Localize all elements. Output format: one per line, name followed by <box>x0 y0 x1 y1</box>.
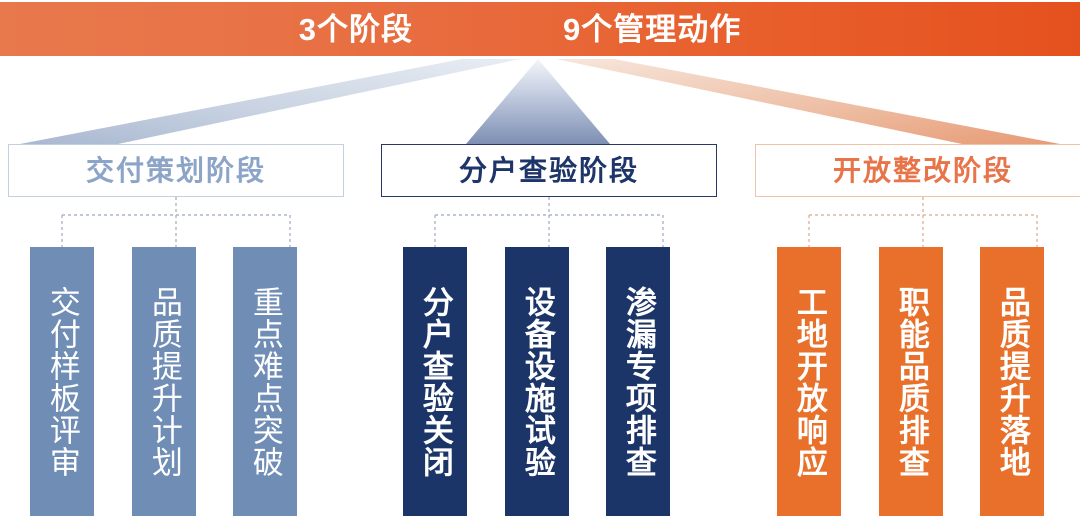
action-bar[interactable]: 分户查验关闭 <box>403 247 467 516</box>
action-bar-label: 工地开放响应 <box>790 286 828 478</box>
phase-title-box-delivery-planning[interactable]: 交付策划阶段 <box>8 144 344 197</box>
phase-title-label: 分户查验阶段 <box>459 157 639 185</box>
phase-group-open-rectification: 开放整改阶段 工地开放响应 职能品质排查 品质提升落地 <box>755 144 1080 516</box>
action-bar-label: 分户查验关闭 <box>416 286 454 478</box>
action-bars-open-rectification: 工地开放响应 职能品质排查 品质提升落地 <box>755 247 1080 516</box>
action-bar[interactable]: 渗漏专项排查 <box>606 247 670 516</box>
action-bar-label: 职能品质排查 <box>892 286 930 478</box>
action-bar[interactable]: 品质提升计划 <box>132 247 196 516</box>
connector-delivery-planning <box>8 197 344 247</box>
phase-group-delivery-planning: 交付策划阶段 交付样板评审 品质提升计划 重点难点突破 <box>8 144 344 516</box>
phase-title-label: 开放整改阶段 <box>833 157 1013 185</box>
phase-group-household-inspection: 分户查验阶段 分户查验关闭 设备设施试验 渗漏专项排查 <box>381 144 717 516</box>
action-bar-label: 重点难点突破 <box>246 286 284 478</box>
action-bars-household-inspection: 分户查验关闭 设备设施试验 渗漏专项排查 <box>381 247 717 516</box>
action-bar-label: 渗漏专项排查 <box>619 286 657 478</box>
action-bar-label: 设备设施试验 <box>518 286 556 478</box>
action-bar-label: 品质提升落地 <box>993 286 1031 478</box>
action-bars-delivery-planning: 交付样板评审 品质提升计划 重点难点突破 <box>8 247 344 516</box>
phase-groups: 交付策划阶段 交付样板评审 品质提升计划 重点难点突破 分户查验阶段 <box>0 0 1080 521</box>
connector-household-inspection <box>381 197 717 247</box>
phase-title-label: 交付策划阶段 <box>86 157 266 185</box>
action-bar[interactable]: 重点难点突破 <box>233 247 297 516</box>
action-bar-label: 品质提升计划 <box>145 286 183 478</box>
action-bar[interactable]: 品质提升落地 <box>980 247 1044 516</box>
action-bar[interactable]: 设备设施试验 <box>505 247 569 516</box>
action-bar[interactable]: 职能品质排查 <box>879 247 943 516</box>
action-bar[interactable]: 交付样板评审 <box>30 247 94 516</box>
phase-title-box-open-rectification[interactable]: 开放整改阶段 <box>755 144 1080 197</box>
action-bar-label: 交付样板评审 <box>43 286 81 478</box>
action-bar[interactable]: 工地开放响应 <box>777 247 841 516</box>
infographic-root: 3个阶段 9个管理动作 <box>0 0 1080 521</box>
connector-open-rectification <box>755 197 1080 247</box>
phase-title-box-household-inspection[interactable]: 分户查验阶段 <box>381 144 717 197</box>
